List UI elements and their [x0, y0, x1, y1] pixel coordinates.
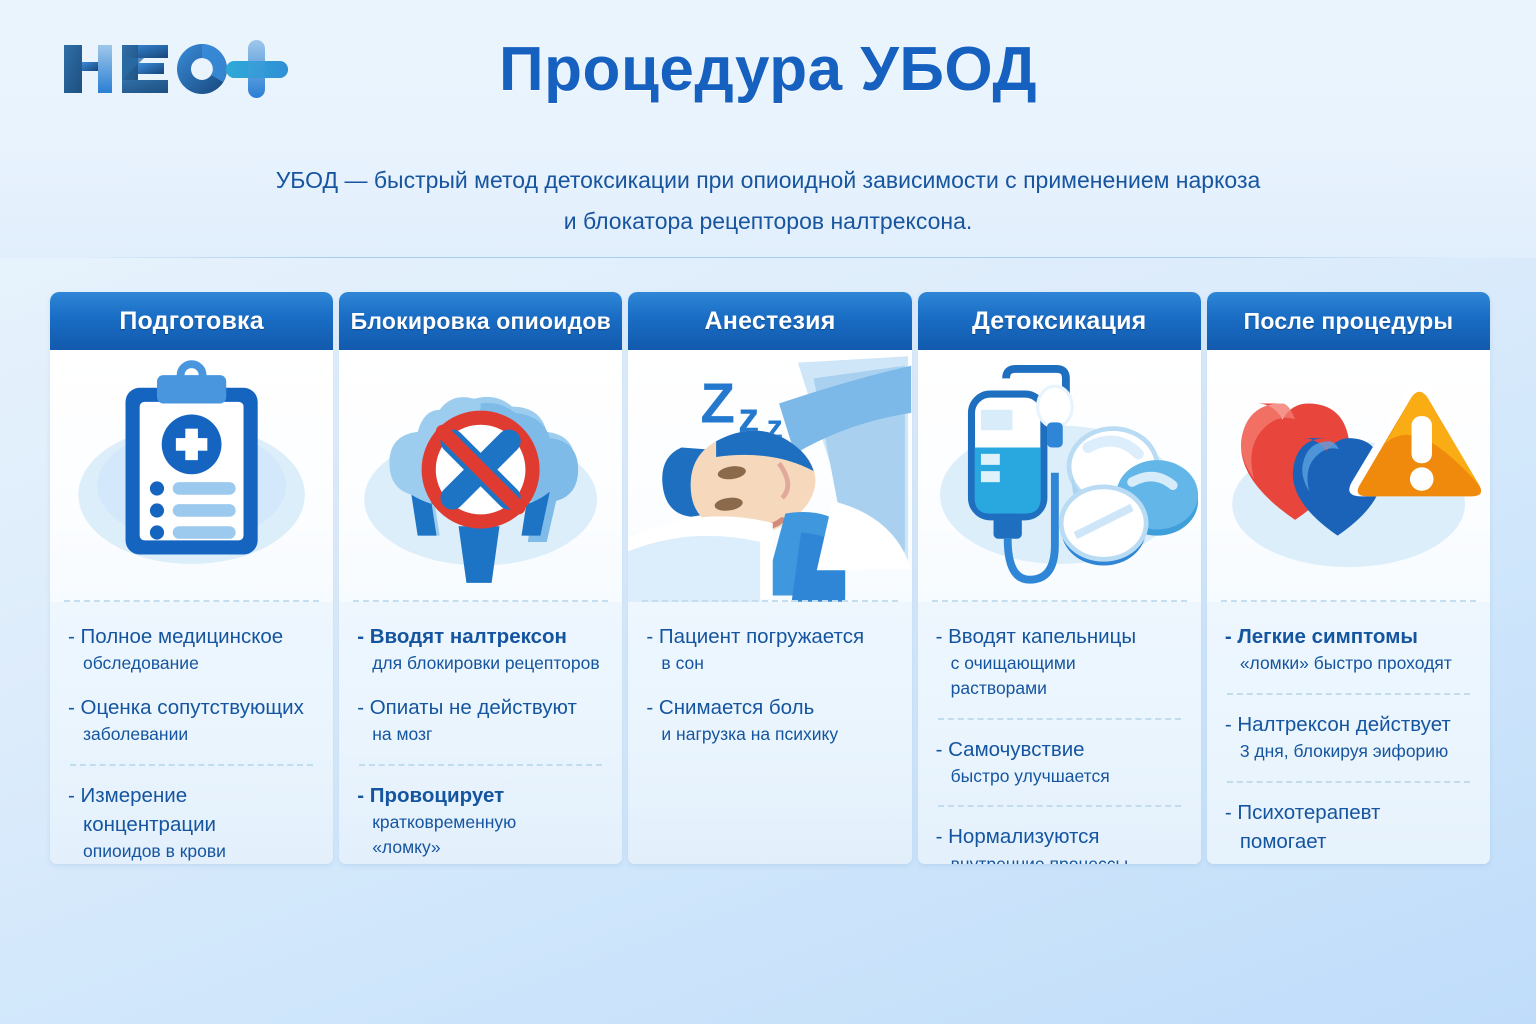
item-line: оценить состояние: [1225, 856, 1472, 864]
iv-drip-pills-icon: [918, 350, 1201, 602]
item-line: - Снимается боль: [646, 693, 893, 722]
item-line: с очищающими: [936, 651, 1183, 676]
card-header-after-procedure: После процедуры: [1207, 292, 1490, 350]
subtitle-line-2: и блокатора рецепторов налтрексона.: [0, 201, 1536, 242]
item-divider: [938, 718, 1181, 720]
item-line: - Пациент погружается: [646, 622, 893, 651]
item-line: и нагрузка на психику: [646, 722, 893, 747]
item-divider: [1227, 693, 1470, 695]
item-line: - Вводят налтрексон: [357, 622, 604, 651]
item-line: - Психотерапевт помогает: [1225, 798, 1472, 856]
icon-area-preparation: [50, 350, 333, 602]
list-item: - Нормализуются внутренние процессы: [936, 822, 1183, 864]
body-opioid-blocking: - Вводят налтрексон для блокировки рецеп…: [339, 602, 622, 864]
page-title: Процедура УБОД: [0, 34, 1536, 105]
body-preparation: - Полное медицинское обследование - Оцен…: [50, 602, 333, 864]
list-item: - Провоцирует кратковременную «ломку»: [357, 781, 604, 860]
card-header-anesthesia: Анестезия: [628, 292, 911, 350]
item-line: обследование: [68, 651, 315, 676]
item-line: в сон: [646, 651, 893, 676]
body-after-procedure: - Легкие симптомы «ломки» быстро проходя…: [1207, 602, 1490, 864]
item-line: заболевании: [68, 722, 315, 747]
item-line: - Легкие симптомы: [1225, 622, 1472, 651]
card-header-preparation: Подготовка: [50, 292, 333, 350]
item-line: растворами: [936, 676, 1183, 701]
list-item: - Вводят налтрексон для блокировки рецеп…: [357, 622, 604, 676]
item-line: для блокировки рецепторов: [357, 651, 604, 676]
item-line: опиоидов в крови: [68, 839, 315, 864]
item-line: - Оценка сопутствующих: [68, 693, 315, 722]
list-item: - Оценка сопутствующих заболевании: [68, 693, 315, 747]
card-anesthesia[interactable]: Анестезия Z z z: [628, 292, 911, 864]
body-anesthesia: - Пациент погружается в сон - Снимается …: [628, 602, 911, 864]
item-line: кратковременную: [357, 810, 604, 835]
card-header-opioid-blocking: Блокировка опиоидов: [339, 292, 622, 350]
item-divider: [1227, 781, 1470, 783]
list-item: - Снимается боль и нагрузка на психику: [646, 693, 893, 747]
card-detoxication[interactable]: Детоксикация: [918, 292, 1201, 864]
item-line: 3 дня, блокируя эифорию: [1225, 739, 1472, 764]
item-line: - Нормализуются: [936, 822, 1183, 851]
item-line: - Налтрексон действует: [1225, 710, 1472, 739]
item-line: - Самочувствие: [936, 735, 1183, 764]
brain-blocked-icon: [339, 350, 622, 602]
item-divider: [359, 764, 602, 766]
body-detoxication: - Вводят капельницы с очищающими раствор…: [918, 602, 1201, 864]
list-item: - Психотерапевт помогает оценить состоян…: [1225, 798, 1472, 864]
item-line: - Полное медицинское: [68, 622, 315, 651]
item-line: внутренние процессы: [936, 852, 1183, 864]
zzz-label: Z: [701, 372, 736, 435]
item-line: быстро улучшается: [936, 764, 1183, 789]
card-header-detoxication: Детоксикация: [918, 292, 1201, 350]
item-divider: [938, 805, 1181, 807]
item-line: «ломки» быстро проходят: [1225, 651, 1472, 676]
item-line: - Измерение концентрации: [68, 781, 315, 839]
icon-area-opioid-blocking: [339, 350, 622, 602]
item-line: - Провоцирует: [357, 781, 604, 810]
list-item: - Опиаты не действуют на мозг: [357, 693, 604, 747]
item-line: - Вводят капельницы: [936, 622, 1183, 651]
icon-area-anesthesia: Z z z: [628, 350, 911, 602]
card-preparation[interactable]: Подготовка -: [50, 292, 333, 864]
item-line: - Опиаты не действуют: [357, 693, 604, 722]
stage-cards: Подготовка -: [50, 292, 1490, 864]
item-line: на мозг: [357, 722, 604, 747]
list-item: - Полное медицинское обследование: [68, 622, 315, 676]
list-item: - Пациент погружается в сон: [646, 622, 893, 676]
subtitle-line-1: УБОД — быстрый метод детоксикации при оп…: [0, 160, 1536, 201]
sleeping-patient-icon: Z z z: [628, 350, 911, 602]
item-line: «ломку»: [357, 835, 604, 860]
clipboard-medical-icon: [50, 350, 333, 602]
hearts-warning-icon: [1207, 350, 1490, 602]
icon-area-detoxication: [918, 350, 1201, 602]
list-item: - Вводят капельницы с очищающими раствор…: [936, 622, 1183, 701]
card-after-procedure[interactable]: После процедуры - Легкие симптомы «ломки…: [1207, 292, 1490, 864]
list-item: - Измерение концентрации опиоидов в кров…: [68, 781, 315, 864]
list-item: - Налтрексон действует 3 дня, блокируя э…: [1225, 710, 1472, 764]
page-subtitle: УБОД — быстрый метод детоксикации при оп…: [0, 160, 1536, 242]
list-item: - Легкие симптомы «ломки» быстро проходя…: [1225, 622, 1472, 676]
item-divider: [70, 764, 313, 766]
card-opioid-blocking[interactable]: Блокировка опиоидов - Вводят налтрексон: [339, 292, 622, 864]
icon-area-after-procedure: [1207, 350, 1490, 602]
list-item: - Самочувствие быстро улучшается: [936, 735, 1183, 789]
